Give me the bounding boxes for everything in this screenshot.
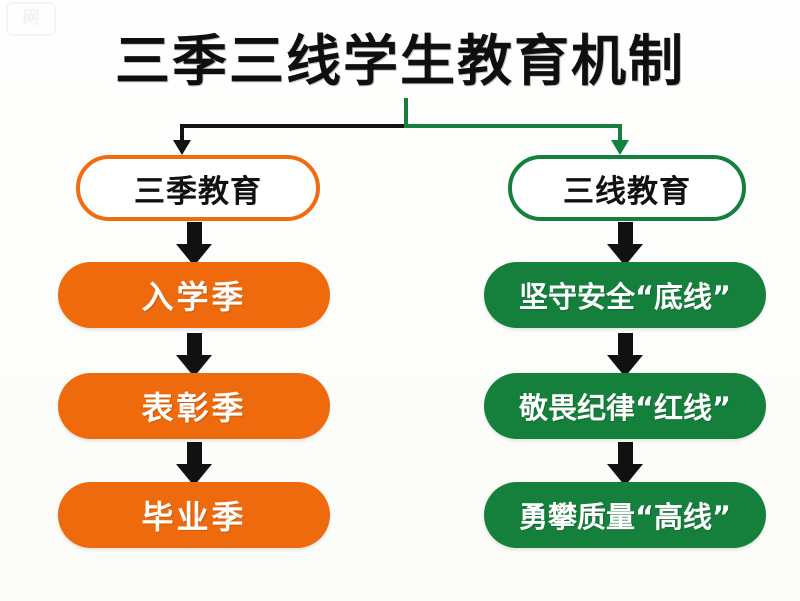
branch-header-right[interactable]: 三线教育 (508, 155, 746, 221)
node-right-1[interactable]: 坚守安全“底线” (484, 262, 766, 328)
arrow-left-header-to-node1-icon (176, 222, 212, 266)
arrow-right-header-to-node1-icon (607, 222, 643, 266)
arrow-left-node1-to-node2-icon (176, 333, 212, 377)
arrow-shaft (187, 333, 202, 356)
node-right-3[interactable]: 勇攀质量“高线” (484, 482, 766, 548)
arrow-left-node2-to-node3-icon (176, 442, 212, 486)
arrow-shaft (618, 333, 633, 356)
arrow-shaft (618, 222, 633, 245)
node-left-2[interactable]: 表彰季 (58, 373, 330, 439)
connector-bar-right (404, 124, 622, 128)
arrow-shaft (187, 222, 202, 245)
arrow-shaft (187, 442, 202, 465)
node-left-1[interactable]: 入学季 (58, 262, 330, 328)
diagram-canvas: 网 三季三线学生教育机制 三季教育 三线教育 入学季 表彰季 (0, 0, 800, 601)
arrow-shaft (618, 442, 633, 465)
node-right-2[interactable]: 敬畏纪律“红线” (484, 373, 766, 439)
branch-header-left[interactable]: 三季教育 (76, 155, 320, 221)
page-title: 三季三线学生教育机制 (0, 16, 800, 96)
connector-arrowhead-right-icon (611, 140, 629, 155)
node-left-3[interactable]: 毕业季 (58, 482, 330, 548)
connector-arrowhead-left-icon (173, 140, 191, 155)
arrow-right-node2-to-node3-icon (607, 442, 643, 486)
connector-bar-left (180, 124, 406, 128)
arrow-right-node1-to-node2-icon (607, 333, 643, 377)
